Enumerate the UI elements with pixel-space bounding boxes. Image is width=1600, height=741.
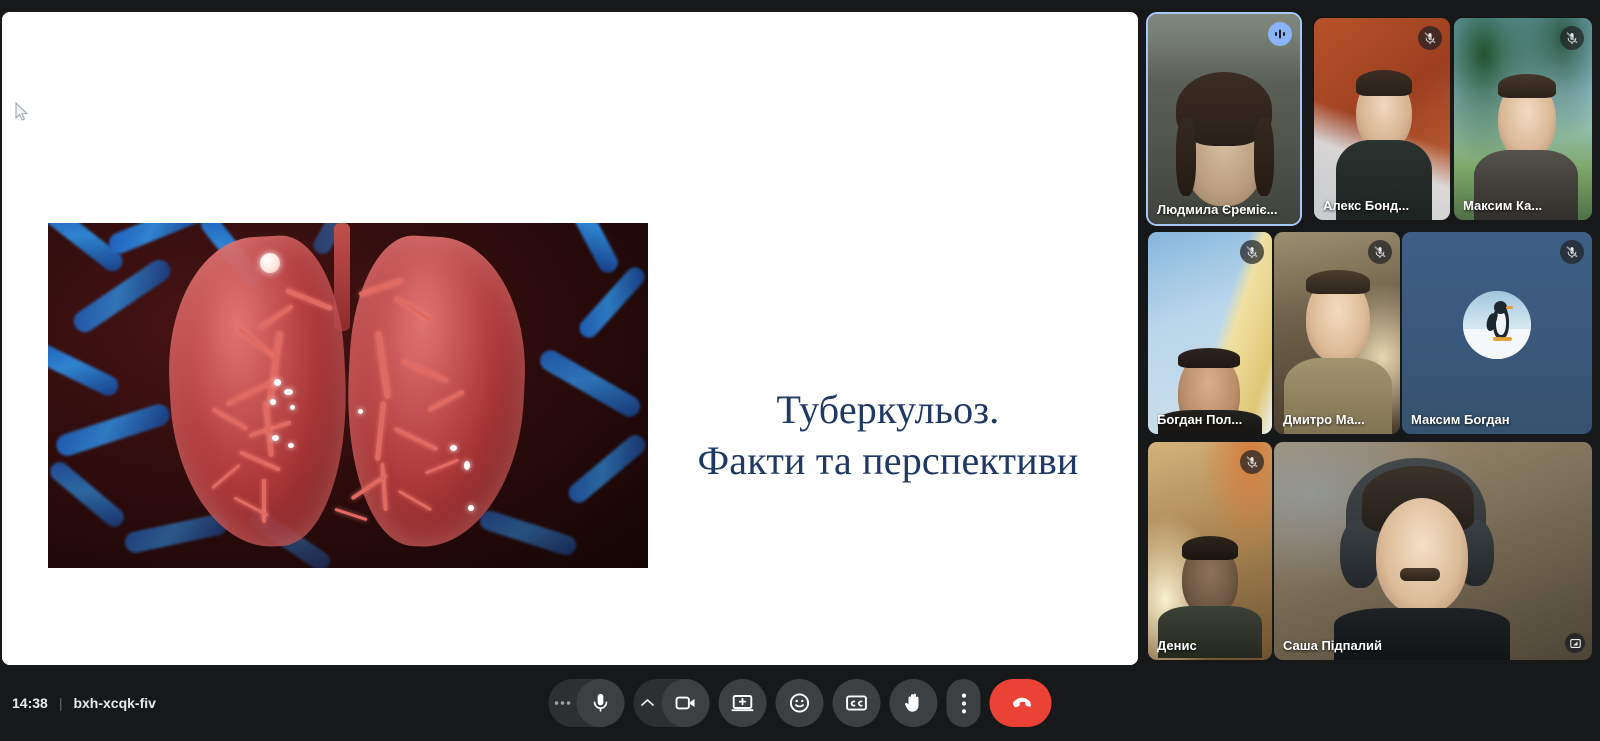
participant-name: Дмитро Ма... <box>1283 412 1391 427</box>
emoji-smile-icon <box>788 691 812 715</box>
participant-tile[interactable]: Саша Підпалий <box>1274 442 1592 660</box>
participant-name: Максим Богдан <box>1411 412 1583 427</box>
raise-hand-button[interactable] <box>890 679 938 727</box>
call-controls <box>549 679 1052 727</box>
slide-title-line-1: Туберкульоз. <box>662 384 1114 435</box>
participant-tile[interactable]: Дмитро Ма... <box>1274 232 1400 434</box>
mic-muted-icon <box>1368 240 1392 264</box>
participant-tile[interactable]: Людмила Єреміє... <box>1148 14 1300 224</box>
mouse-cursor-icon <box>15 102 29 121</box>
participant-tile[interactable]: Богдан Пол... <box>1148 232 1272 434</box>
more-options-button[interactable] <box>947 679 981 727</box>
end-call-button[interactable] <box>990 679 1052 727</box>
participant-tile[interactable]: Максим Ка... <box>1454 18 1592 220</box>
participant-tile[interactable]: Максим Богдан <box>1402 232 1592 434</box>
more-vertical-icon <box>961 693 966 714</box>
participant-tile[interactable]: Алекс Бонд... <box>1314 18 1450 220</box>
video-camera-icon[interactable] <box>662 679 710 727</box>
mic-muted-icon <box>1560 26 1584 50</box>
mic-muted-icon <box>1240 450 1264 474</box>
calcified-nodule <box>260 253 280 273</box>
meeting-code[interactable]: bxh-xcqk-fiv <box>73 695 155 711</box>
participant-name: Денис <box>1157 638 1263 653</box>
microphone-button[interactable] <box>549 679 625 727</box>
camera-button[interactable] <box>634 679 710 727</box>
avatar <box>1463 291 1531 359</box>
slide-title: Туберкульоз. Факти та перспективи <box>662 384 1114 486</box>
phone-hangup-icon <box>1008 690 1034 716</box>
participant-tile[interactable]: Денис <box>1148 442 1272 660</box>
reactions-button[interactable] <box>776 679 824 727</box>
mic-icon[interactable] <box>577 679 625 727</box>
lung-left <box>162 233 354 552</box>
participant-name: Алекс Бонд... <box>1323 198 1441 213</box>
meeting-info: 14:38 | bxh-xcqk-fiv <box>12 695 156 711</box>
meeting-time: 14:38 <box>12 695 48 711</box>
chevron-up-icon[interactable] <box>634 698 662 708</box>
participant-name: Богдан Пол... <box>1157 412 1263 427</box>
bottom-toolbar: 14:38 | bxh-xcqk-fiv <box>0 665 1600 741</box>
closed-captions-icon <box>845 691 869 715</box>
lung-right <box>340 233 532 552</box>
google-meet-window: Туберкульоз. Факти та перспективи <box>0 0 1600 741</box>
participant-name: Саша Підпалий <box>1283 638 1583 653</box>
mic-level-icon <box>549 700 577 706</box>
speaking-indicator-icon <box>1268 22 1292 46</box>
participant-name: Максим Ка... <box>1463 198 1583 213</box>
participant-name: Людмила Єреміє... <box>1157 202 1291 217</box>
participant-grid: Людмила Єреміє... Алекс Бонд... <box>1146 10 1594 662</box>
slide-title-line-2: Факти та перспективи <box>662 435 1114 486</box>
raise-hand-icon <box>902 691 926 715</box>
presentation-stage[interactable]: Туберкульоз. Факти та перспективи <box>2 12 1138 665</box>
present-screen-icon <box>731 691 755 715</box>
captions-button[interactable] <box>833 679 881 727</box>
mic-muted-icon <box>1240 240 1264 264</box>
lungs-tuberculosis-image <box>48 223 648 568</box>
meeting-separator: | <box>59 695 63 711</box>
mic-muted-icon <box>1560 240 1584 264</box>
present-screen-button[interactable] <box>719 679 767 727</box>
slide: Туберкульоз. Факти та перспективи <box>2 12 1138 665</box>
mic-muted-icon <box>1418 26 1442 50</box>
